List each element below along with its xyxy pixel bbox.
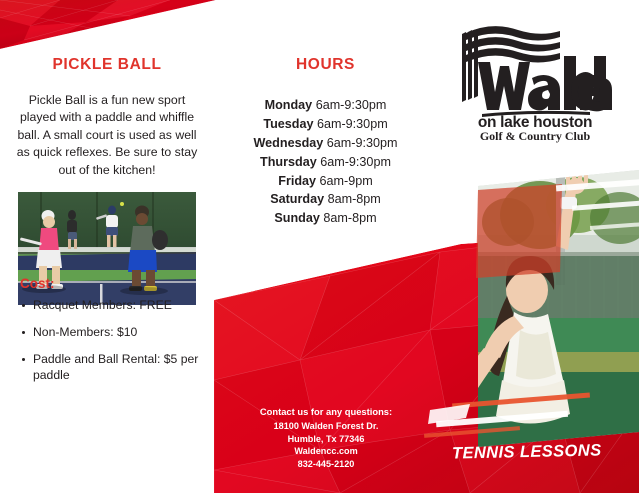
hours-day: Friday bbox=[278, 174, 316, 188]
hours-day: Wednesday bbox=[254, 136, 324, 150]
hours-day: Monday bbox=[265, 98, 313, 112]
hours-row: Sunday 8am-8pm bbox=[218, 209, 433, 228]
hours-time: 6am-9:30pm bbox=[316, 98, 387, 112]
cost-item: Racquet Members: FREE bbox=[20, 298, 210, 314]
cost-item: Non-Members: $10 bbox=[20, 325, 210, 341]
hours-row: Saturday 8am-8pm bbox=[218, 190, 433, 209]
cost-title: Cost: bbox=[20, 276, 210, 291]
pickle-ball-column: PICKLE BALL Pickle Ball is a fun new spo… bbox=[0, 52, 214, 179]
brochure-page: PICKLE BALL Pickle Ball is a fun new spo… bbox=[0, 0, 639, 493]
top-red-banner bbox=[0, 0, 216, 49]
hours-day: Sunday bbox=[274, 211, 320, 225]
contact-title: Contact us for any questions: bbox=[236, 406, 416, 417]
hours-row: Friday 6am-9pm bbox=[218, 172, 433, 191]
hours-list: Monday 6am-9:30pm Tuesday 6am-9:30pm Wed… bbox=[218, 96, 433, 228]
logo-tagline-text: Golf & Country Club bbox=[480, 129, 591, 143]
hours-time: 6am-9:30pm bbox=[317, 117, 388, 131]
hours-row: Monday 6am-9:30pm bbox=[218, 96, 433, 115]
walden-logo: on lake houston Golf & Country Club bbox=[452, 26, 618, 144]
hours-day: Thursday bbox=[260, 155, 317, 169]
contact-phone[interactable]: 832-445-2120 bbox=[236, 458, 416, 471]
photo-red-overlay bbox=[476, 184, 562, 278]
logo-wordmark bbox=[478, 56, 612, 111]
hours-time: 6am-9:30pm bbox=[327, 136, 398, 150]
pickle-ball-heading: PICKLE BALL bbox=[0, 56, 214, 74]
hours-time: 8am-8pm bbox=[323, 211, 376, 225]
hours-time: 8am-8pm bbox=[328, 192, 381, 206]
cost-item: Paddle and Ball Rental: $5 per paddle bbox=[20, 352, 210, 384]
hours-day: Tuesday bbox=[263, 117, 313, 131]
hours-row: Thursday 6am-9:30pm bbox=[218, 153, 433, 172]
hours-row: Wednesday 6am-9:30pm bbox=[218, 134, 433, 153]
hours-heading: HOURS bbox=[218, 56, 433, 74]
hours-time: 6am-9:30pm bbox=[320, 155, 391, 169]
pickle-ball-body: Pickle Ball is a fun new sport played wi… bbox=[16, 92, 198, 179]
hours-column: HOURS Monday 6am-9:30pm Tuesday 6am-9:30… bbox=[218, 52, 433, 228]
hours-row: Tuesday 6am-9:30pm bbox=[218, 115, 433, 134]
cost-section: Cost: Racquet Members: FREE Non-Members:… bbox=[20, 276, 210, 394]
contact-website[interactable]: Waldencc.com bbox=[236, 445, 416, 458]
contact-city-state-zip: Humble, Tx 77346 bbox=[236, 433, 416, 446]
hours-day: Saturday bbox=[270, 192, 324, 206]
hours-time: 6am-9pm bbox=[320, 174, 373, 188]
contact-address: 18100 Walden Forest Dr. bbox=[236, 420, 416, 433]
cost-list: Racquet Members: FREE Non-Members: $10 P… bbox=[20, 298, 210, 383]
tennis-lessons-caption: TENNIS LESSONS bbox=[452, 441, 602, 463]
contact-block: Contact us for any questions: 18100 Wald… bbox=[236, 406, 416, 470]
